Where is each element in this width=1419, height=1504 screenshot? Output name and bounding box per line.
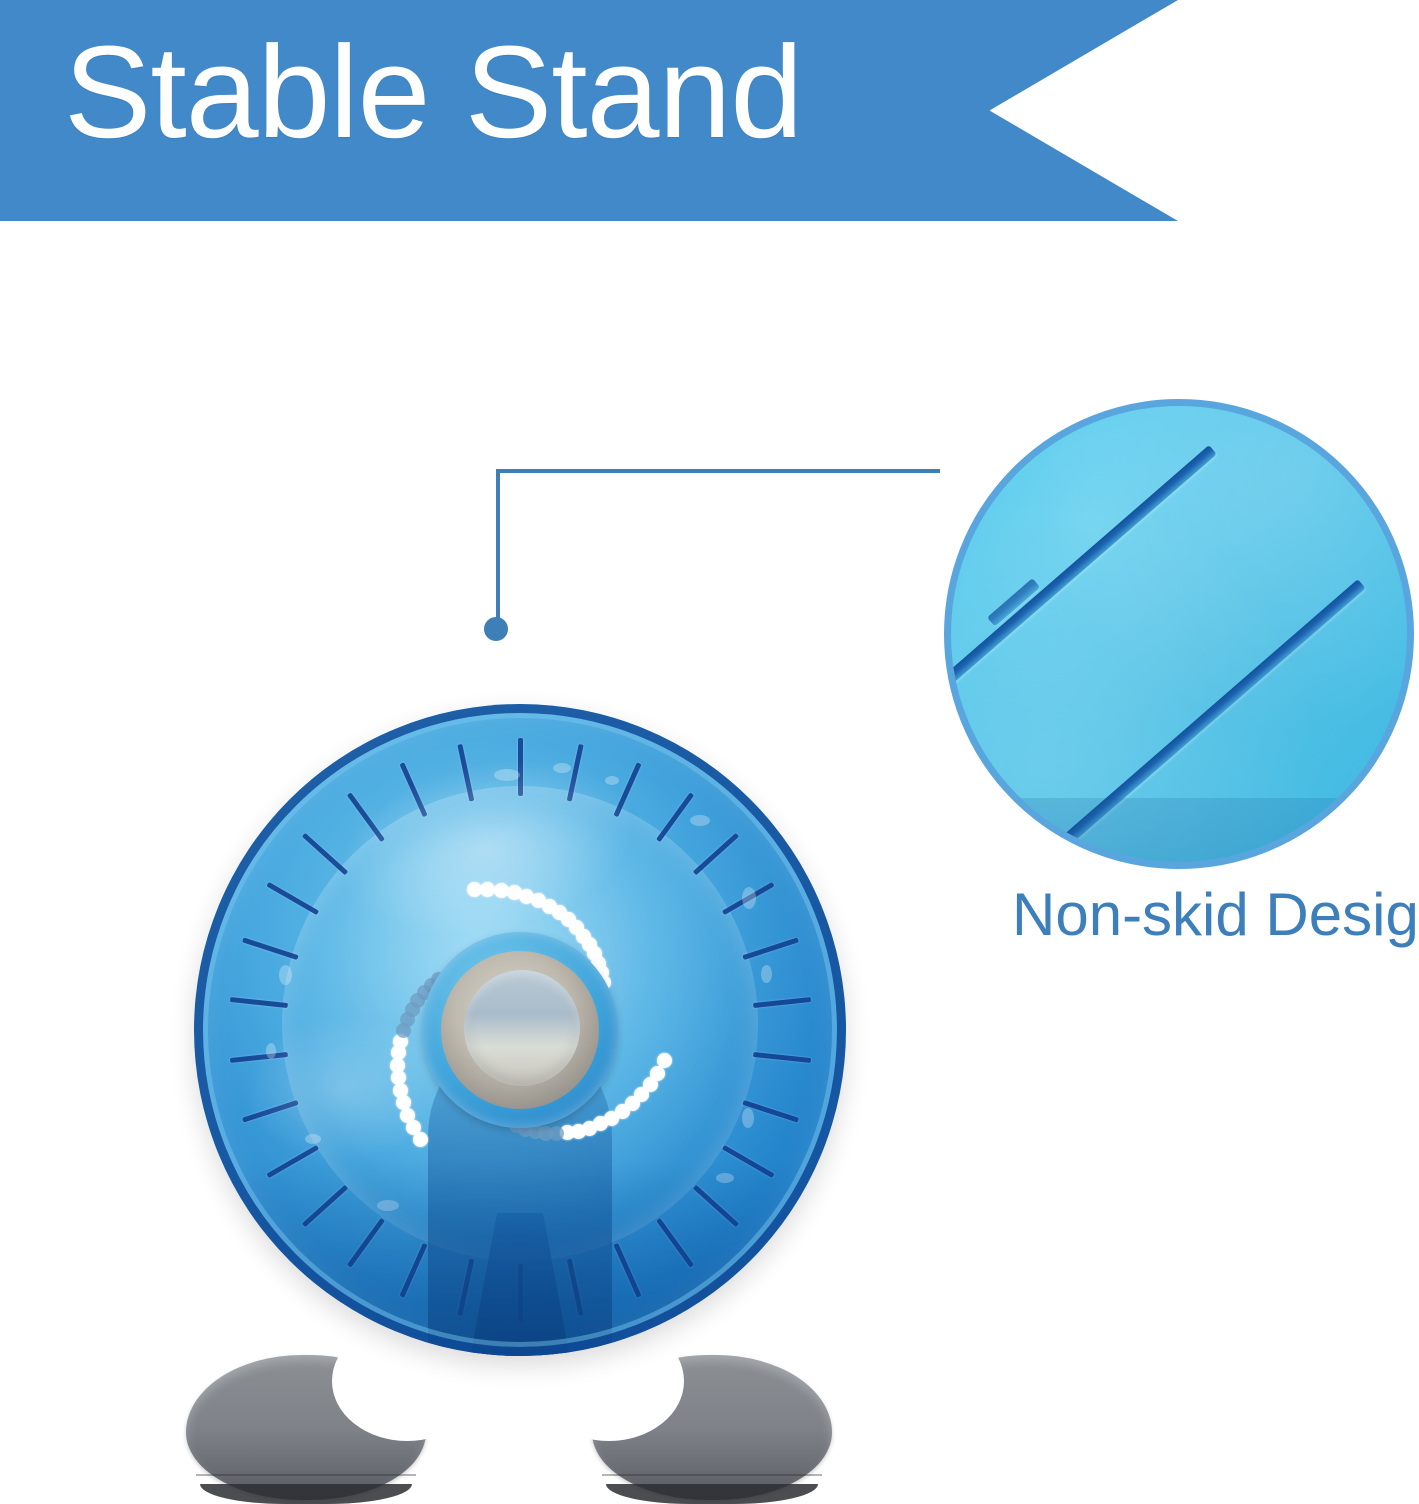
exercise-wheel [194, 704, 846, 1356]
foot-rubber-bottom [200, 1484, 412, 1504]
product-feature-image: Stable Stand Non-skid Design [0, 0, 1419, 1500]
wheel-outer-rim [194, 704, 846, 1356]
stand-foot-right [592, 1355, 832, 1500]
product-photo [150, 672, 890, 1500]
foot-rubber-bottom [606, 1484, 818, 1504]
foot-seam [602, 1474, 822, 1476]
callout-leader-horizontal [498, 469, 940, 473]
callout-anchor-dot [484, 617, 508, 641]
non-skid-macro-photo [944, 399, 1414, 869]
macro-shadow [944, 798, 1414, 869]
callout-label: Non-skid Design [1012, 882, 1419, 948]
page-title: Stable Stand [64, 26, 802, 157]
foot-seam [196, 1474, 416, 1476]
callout-leader-vertical [496, 469, 500, 629]
stand-foot-left [186, 1355, 426, 1500]
